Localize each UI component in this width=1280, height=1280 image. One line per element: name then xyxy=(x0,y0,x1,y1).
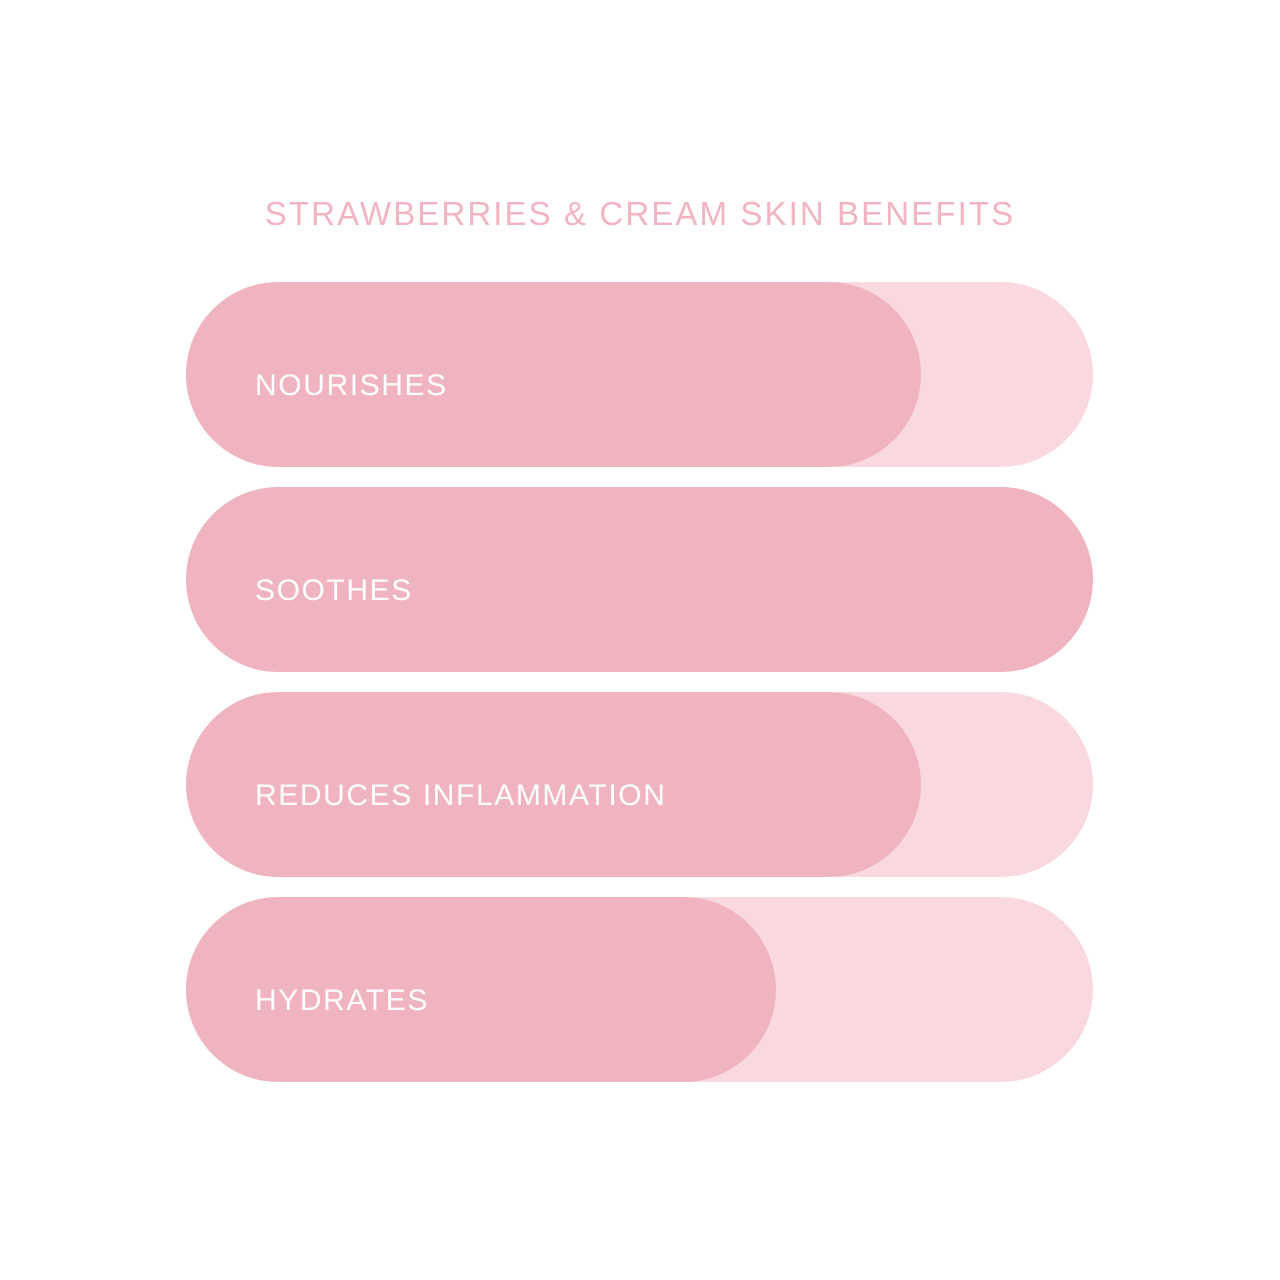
list-item[interactable]: SOOTHES xyxy=(186,487,1093,672)
list-item[interactable]: HYDRATES xyxy=(186,897,1093,1082)
bar-fill-hydrates xyxy=(186,897,776,1082)
list-item[interactable]: REDUCES INFLAMMATION xyxy=(186,692,1093,877)
benefit-bar-list: NOURISHES SOOTHES REDUCES INFLAMMATION H… xyxy=(186,282,1093,1082)
skin-benefits-infographic: STRAWBERRIES & CREAM SKIN BENEFITS NOURI… xyxy=(0,0,1280,1280)
list-item[interactable]: NOURISHES xyxy=(186,282,1093,467)
bar-fill-reduces-inflammation xyxy=(186,692,921,877)
bar-fill-soothes xyxy=(186,487,1093,672)
bar-fill-nourishes xyxy=(186,282,921,467)
page-title: STRAWBERRIES & CREAM SKIN BENEFITS xyxy=(0,196,1280,232)
